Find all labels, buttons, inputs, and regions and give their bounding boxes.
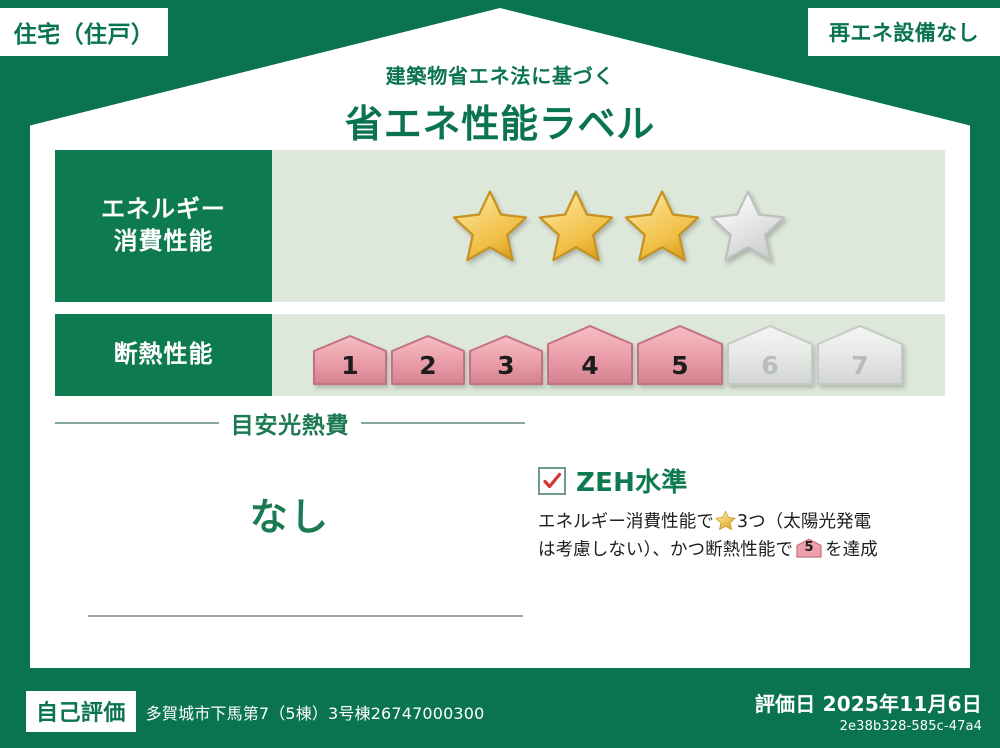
checkbox-checked-icon[interactable] bbox=[538, 467, 566, 495]
energy-performance-label: 住宅（住戸） 再エネ設備なし 建築物省エネ法に基づく 省エネ性能ラベル エネルギ… bbox=[0, 0, 1000, 748]
house-pip-inactive-icon bbox=[816, 324, 904, 386]
insulation-performance-row: 断熱性能 1234567 bbox=[55, 314, 945, 396]
insulation-pip-icon: 5 bbox=[796, 538, 822, 558]
footer-left: 自己評価 多賀城市下馬第7（5棟）3号棟26747000300 bbox=[26, 691, 484, 732]
property-address: 多賀城市下馬第7（5棟）3号棟26747000300 bbox=[146, 700, 485, 724]
zeh-header: ZEH水準 bbox=[538, 462, 950, 499]
insulation-level-5: 5 bbox=[636, 324, 724, 386]
star-empty-icon bbox=[709, 187, 787, 265]
zeh-desc-part2: は考慮しない）、かつ断熱性能で bbox=[538, 540, 793, 560]
star-rating bbox=[272, 150, 945, 302]
zeh-description: エネルギー消費性能で3つ（太陽光発電 は考慮しない）、かつ断熱性能で5を達成 bbox=[538, 508, 950, 565]
utility-cost-bottom-rule bbox=[88, 615, 523, 617]
insulation-pip-track: 1234567 bbox=[312, 324, 904, 386]
rule-right bbox=[361, 422, 525, 424]
rule-left bbox=[55, 422, 219, 424]
title-block: 建築物省エネ法に基づく 省エネ性能ラベル bbox=[0, 60, 1000, 148]
house-pip-active-icon bbox=[546, 324, 634, 386]
building-type-tag: 住宅（住戸） bbox=[0, 8, 168, 56]
energy-performance-label: エネルギー 消費性能 bbox=[55, 150, 272, 302]
evaluation-date: 評価日 2025年11月6日 bbox=[755, 688, 982, 717]
house-pip-active-icon bbox=[390, 334, 466, 386]
insulation-scale: 1234567 bbox=[272, 314, 945, 396]
star-filled-icon bbox=[451, 187, 529, 265]
zeh-desc-part3: を達成 bbox=[825, 540, 878, 560]
insulation-level-6: 6 bbox=[726, 324, 814, 386]
star-filled-icon bbox=[623, 187, 701, 265]
insulation-label-text: 断熱性能 bbox=[114, 339, 214, 371]
house-pip-inactive-icon bbox=[726, 324, 814, 386]
self-evaluation-tag: 自己評価 bbox=[26, 691, 136, 732]
zeh-desc-part1: エネルギー消費性能で bbox=[538, 512, 714, 532]
energy-performance-row: エネルギー 消費性能 bbox=[55, 150, 945, 302]
renewable-energy-tag: 再エネ設備なし bbox=[808, 8, 1000, 56]
insulation-level-4: 4 bbox=[546, 324, 634, 386]
insulation-pip-icon-value: 5 bbox=[796, 537, 822, 558]
insulation-level-1: 1 bbox=[312, 334, 388, 386]
evaluation-id: 2e38b328-585c-47a4 bbox=[755, 719, 982, 734]
page-title: 省エネ性能ラベル bbox=[0, 93, 1000, 148]
zeh-block: ZEH水準 エネルギー消費性能で3つ（太陽光発電 は考慮しない）、かつ断熱性能で… bbox=[538, 462, 950, 565]
house-pip-active-icon bbox=[636, 324, 724, 386]
energy-label-line2: 消費性能 bbox=[114, 226, 214, 258]
insulation-level-7: 7 bbox=[816, 324, 904, 386]
house-pip-active-icon bbox=[468, 334, 544, 386]
zeh-title: ZEH水準 bbox=[576, 462, 688, 499]
utility-cost-value: なし bbox=[55, 486, 525, 541]
title-subtitle: 建築物省エネ法に基づく bbox=[0, 60, 1000, 89]
zeh-desc-stars: 3つ（太陽光発電 bbox=[737, 512, 871, 532]
utility-cost-header: 目安光熱費 bbox=[55, 406, 525, 440]
insulation-performance-label: 断熱性能 bbox=[55, 314, 272, 396]
star-icon bbox=[715, 510, 736, 531]
energy-label-line1: エネルギー bbox=[101, 194, 226, 226]
footer-right: 評価日 2025年11月6日 2e38b328-585c-47a4 bbox=[755, 688, 982, 734]
insulation-level-3: 3 bbox=[468, 334, 544, 386]
star-filled-icon bbox=[537, 187, 615, 265]
house-pip-active-icon bbox=[312, 334, 388, 386]
insulation-level-2: 2 bbox=[390, 334, 466, 386]
utility-cost-title: 目安光熱費 bbox=[231, 406, 349, 440]
